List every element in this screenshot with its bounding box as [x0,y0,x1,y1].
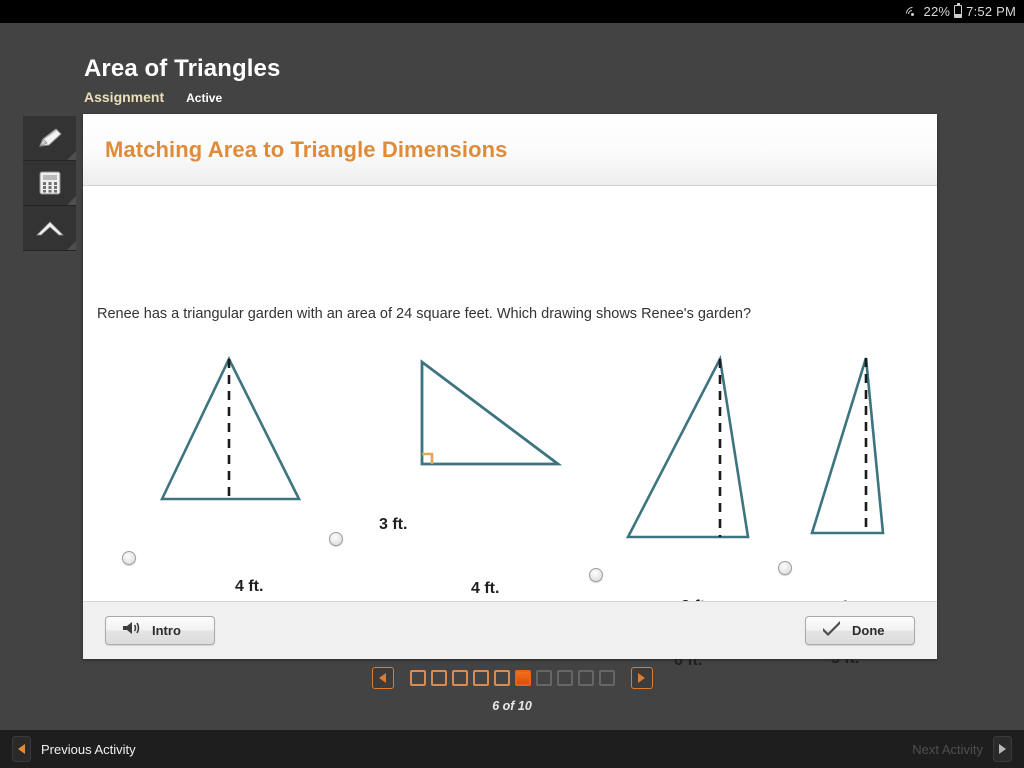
pointer-tool[interactable] [23,206,76,251]
assignment-status-label: Active [186,91,222,105]
pager-square-10[interactable] [599,670,615,686]
pager-right-arrow-icon [638,673,645,683]
choice-d-radio[interactable] [778,561,792,575]
next-activity-label: Next Activity [912,742,983,757]
activity-title: Matching Area to Triangle Dimensions [83,137,508,163]
nav-left-arrow-icon [12,736,31,762]
next-activity-button[interactable]: Next Activity [912,736,1012,762]
pager-square-5[interactable] [494,670,510,686]
assignment-type-label: Assignment [84,89,164,105]
pager-square-1[interactable] [410,670,426,686]
pager-prev-button[interactable] [372,667,394,689]
calculator-tool[interactable] [23,161,76,206]
highlighter-tool[interactable] [23,116,76,161]
pager-square-7[interactable] [536,670,552,686]
wifi-icon [905,5,920,18]
calculator-icon [38,170,62,196]
app-header: Area of Triangles Assignment Active [0,23,1024,113]
nav-right-arrow-icon [993,736,1012,762]
pager-square-8[interactable] [557,670,573,686]
intro-button-label: Intro [152,623,181,638]
panel-footer: Intro Done [83,601,937,659]
content-panel: Matching Area to Triangle Dimensions Ren… [83,114,937,659]
pager-square-3[interactable] [452,670,468,686]
pencil-icon [35,125,65,151]
assignment-meta-row: Assignment Active [84,89,222,105]
pager-square-9[interactable] [578,670,594,686]
previous-activity-label: Previous Activity [41,742,136,757]
intro-button[interactable]: Intro [105,616,215,645]
pager-squares [410,670,615,686]
choice-d-figure [83,186,937,623]
pager-next-button[interactable] [631,667,653,689]
answer-choices-area: 4 ft. 6 ft. 3 ft. 4 ft. 8 ft. 6 ft. [83,186,937,623]
panel-body: Renee has a triangular garden with an ar… [83,186,937,623]
battery-icon [954,5,962,18]
done-button[interactable]: Done [805,616,915,645]
speaker-icon [122,620,142,641]
bottom-activity-nav: Previous Activity Next Activity [0,730,1024,768]
battery-percent-label: 22% [924,4,951,19]
pager-count-label: 6 of 10 [0,699,1024,713]
pager-square-2[interactable] [431,670,447,686]
android-status-bar: 22% 7:52 PM [0,0,1024,23]
up-arrow-icon [35,217,65,239]
checkmark-icon [822,620,842,641]
pager-square-6[interactable] [515,670,531,686]
pager-control [0,667,1024,689]
previous-activity-button[interactable]: Previous Activity [12,736,136,762]
clock-label: 7:52 PM [966,4,1016,19]
done-button-label: Done [852,623,885,638]
tool-rail [23,116,76,251]
pager-left-arrow-icon [379,673,386,683]
panel-header: Matching Area to Triangle Dimensions [83,114,937,186]
page-title: Area of Triangles [84,55,280,83]
pager-square-4[interactable] [473,670,489,686]
